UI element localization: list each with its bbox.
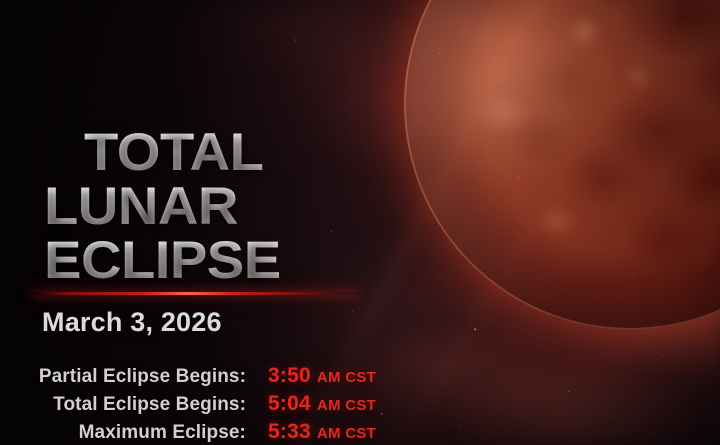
table-row: Maximum Eclipse: 5:33 AM CST xyxy=(0,420,430,445)
event-time: 3:50 xyxy=(268,364,311,388)
event-label: Partial Eclipse Begins: xyxy=(0,366,246,388)
event-time: 5:04 xyxy=(268,392,311,416)
red-divider-rule xyxy=(30,292,360,295)
event-time: 5:33 xyxy=(268,420,311,444)
event-label: Total Eclipse Begins: xyxy=(0,394,246,416)
event-timezone: AM CST xyxy=(317,425,376,442)
page-title: TOTAL LUNAR ECLIPSE xyxy=(0,126,420,287)
eclipse-date: March 3, 2026 xyxy=(42,307,222,338)
table-row: Total Eclipse Begins: 5:04 AM CST xyxy=(0,392,430,420)
table-row: Partial Eclipse Begins: 3:50 AM CST xyxy=(0,364,430,392)
title-line-3: ECLIPSE xyxy=(44,234,443,287)
poster-content: TOTAL LUNAR ECLIPSE March 3, 2026 Partia… xyxy=(0,0,720,445)
event-timezone: AM CST xyxy=(317,369,376,386)
eclipse-timetable: Partial Eclipse Begins: 3:50 AM CST Tota… xyxy=(0,364,430,445)
eclipse-poster: TOTAL LUNAR ECLIPSE March 3, 2026 Partia… xyxy=(0,0,720,445)
event-timezone: AM CST xyxy=(317,397,376,414)
event-label: Maximum Eclipse: xyxy=(0,422,246,444)
title-line-2: LUNAR xyxy=(44,180,443,233)
title-line-1: TOTAL xyxy=(84,126,440,179)
